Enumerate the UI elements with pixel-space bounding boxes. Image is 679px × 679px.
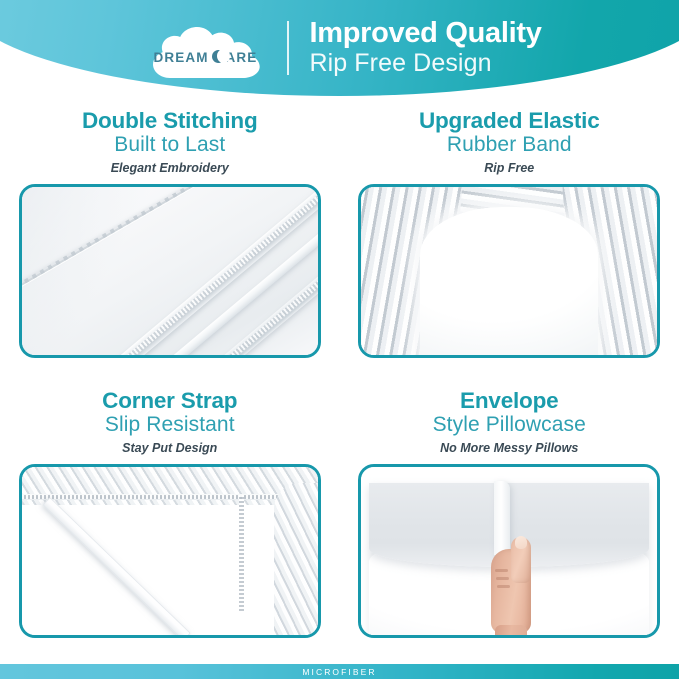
brand-logo: DREAMARE — [137, 16, 273, 80]
feature-cell-upgraded-elastic: Upgraded Elastic Rubber Band Rip Free — [340, 100, 679, 380]
feature-subtitle: Rubber Band — [358, 133, 662, 157]
footer-label: MICROFIBER — [302, 667, 376, 677]
header-subtitle: Rip Free Design — [309, 49, 541, 78]
feature-title: Corner Strap — [18, 388, 322, 413]
corner-strap — [42, 497, 191, 638]
product-feature-infographic: DREAMARE Improved Quality Rip Free Desig… — [0, 0, 679, 679]
double-stitching-photo — [19, 184, 321, 358]
corner-strap-photo — [19, 464, 321, 638]
feature-grid: Double Stitching Built to Last Elegant E… — [0, 100, 679, 660]
crescent-moon-icon — [212, 50, 225, 64]
envelope-pillowcase-photo — [358, 464, 660, 638]
header-titles: Improved Quality Rip Free Design — [309, 18, 541, 77]
brand-name-first: DREAM — [154, 50, 209, 65]
feature-caption: Corner Strap Slip Resistant Stay Put Des… — [18, 388, 322, 457]
feature-title: Double Stitching — [18, 108, 322, 133]
pillowcase-surface — [361, 467, 657, 635]
hand-crease — [496, 577, 509, 580]
header-content: DREAMARE Improved Quality Rip Free Desig… — [0, 6, 679, 90]
feature-subtitle: Slip Resistant — [18, 413, 322, 437]
feature-cell-corner-strap: Corner Strap Slip Resistant Stay Put Des… — [0, 380, 340, 660]
cloud-icon — [137, 16, 273, 80]
feature-tagline: Elegant Embroidery — [18, 159, 322, 178]
feature-title: Upgraded Elastic — [358, 108, 662, 133]
feature-subtitle: Style Pillowcase — [358, 413, 662, 437]
brand-logo-text: DREAMARE — [137, 50, 273, 65]
feature-cell-envelope-pillowcase: Envelope Style Pillowcase No More Messy … — [340, 380, 679, 660]
feature-caption: Upgraded Elastic Rubber Band Rip Free — [358, 108, 662, 177]
mattress-surface — [22, 467, 318, 635]
sheet-corner-panel — [420, 207, 598, 358]
hand-crease — [497, 585, 510, 588]
header-title: Improved Quality — [309, 18, 541, 49]
thumb-nail — [515, 536, 527, 549]
upgraded-elastic-photo — [358, 184, 660, 358]
brand-name-second: ARE — [226, 50, 258, 65]
hand-wrist — [495, 625, 527, 638]
feature-caption: Double Stitching Built to Last Elegant E… — [18, 108, 322, 177]
footer-bar: MICROFIBER — [0, 664, 679, 679]
hand-illustration — [491, 543, 531, 638]
feature-tagline: Stay Put Design — [18, 439, 322, 458]
feature-caption: Envelope Style Pillowcase No More Messy … — [358, 388, 662, 457]
feature-tagline: No More Messy Pillows — [358, 439, 662, 458]
feature-tagline: Rip Free — [358, 159, 662, 178]
feature-title: Envelope — [358, 388, 662, 413]
header-divider — [287, 21, 289, 75]
hand-crease — [495, 569, 508, 572]
mattress-corner-piping — [244, 495, 300, 613]
feature-subtitle: Built to Last — [18, 133, 322, 157]
feature-cell-double-stitching: Double Stitching Built to Last Elegant E… — [0, 100, 340, 380]
